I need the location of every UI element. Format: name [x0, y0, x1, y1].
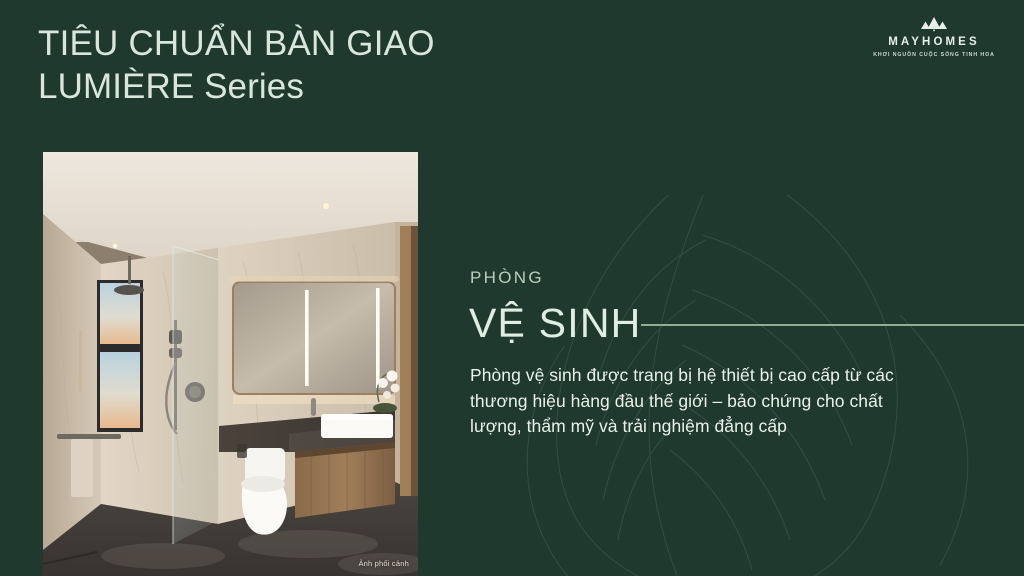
mayhomes-mountain-icon — [919, 16, 949, 32]
title-line-1: TIÊU CHUẨN BÀN GIAO — [38, 22, 558, 65]
section-body-text: Phòng vệ sinh được trang bị hệ thiết bị … — [470, 363, 902, 440]
slide-root: TIÊU CHUẨN BÀN GIAO LUMIÈRE Series MAYHO… — [0, 0, 1024, 576]
brand-logo: MAYHOMES KHƠI NGUỒN CUỘC SỐNG TINH HOA — [866, 16, 1002, 58]
page-title: TIÊU CHUẨN BÀN GIAO LUMIÈRE Series — [38, 22, 558, 108]
title-line-2: LUMIÈRE Series — [38, 65, 558, 108]
section-headline: VỆ SINH — [469, 300, 641, 346]
section-eyebrow: PHÒNG — [470, 268, 544, 288]
headline-divider — [641, 324, 1024, 326]
logo-wordmark: MAYHOMES — [866, 37, 1002, 49]
bathroom-render-image: Ảnh phối cảnh — [43, 152, 418, 576]
photo-caption: Ảnh phối cảnh — [358, 559, 409, 568]
bathroom-render-svg — [43, 152, 418, 576]
logo-tagline: KHƠI NGUỒN CUỘC SỐNG TINH HOA — [866, 53, 1002, 58]
